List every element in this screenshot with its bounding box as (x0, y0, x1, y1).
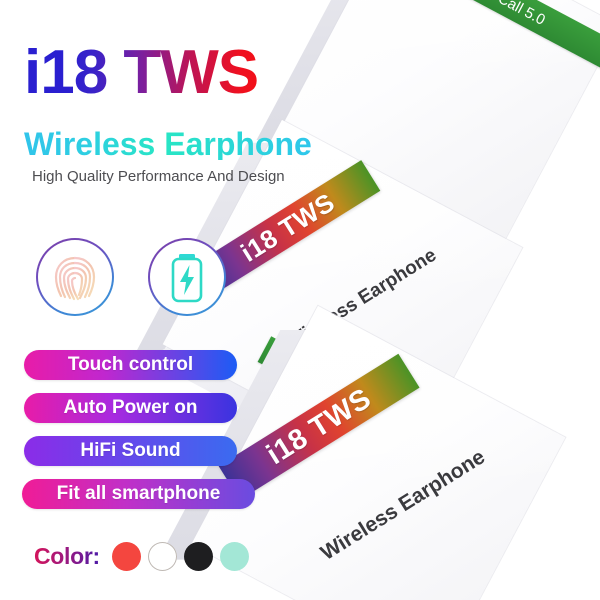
feature-pill-label: Touch control (68, 354, 193, 376)
feature-pill-touch-control[interactable]: Touch control (24, 350, 237, 380)
feature-pill-label: Fit all smartphone (57, 483, 221, 505)
color-label: Color: (34, 543, 100, 570)
feature-pill-fit-all-smartphone[interactable]: Fit all smartphone (22, 479, 255, 509)
color-swatch-black[interactable] (184, 542, 213, 571)
color-swatch-white[interactable] (148, 542, 177, 571)
product-subtitle: Wireless Earphone (24, 128, 312, 160)
feature-pill-list: Touch control Auto Power on HiFi Sound F… (24, 350, 255, 522)
feature-pill-label: Auto Power on (63, 397, 197, 419)
product-tagline: High Quality Performance And Design (32, 168, 285, 185)
color-swatch-mint[interactable] (220, 542, 249, 571)
fingerprint-icon (36, 238, 114, 316)
feature-pill-auto-power-on[interactable]: Auto Power on (24, 393, 237, 423)
color-swatch-red[interactable] (112, 542, 141, 571)
color-selector: Color: (34, 542, 256, 571)
feature-pill-label: HiFi Sound (80, 440, 180, 462)
page-title: i18 TWS (24, 42, 258, 104)
product-info-panel: i18 TWS Wireless Earphone High Quality P… (0, 0, 360, 600)
feature-pill-hifi-sound[interactable]: HiFi Sound (24, 436, 237, 466)
feature-icon-row (36, 238, 226, 316)
battery-charge-icon (148, 238, 226, 316)
